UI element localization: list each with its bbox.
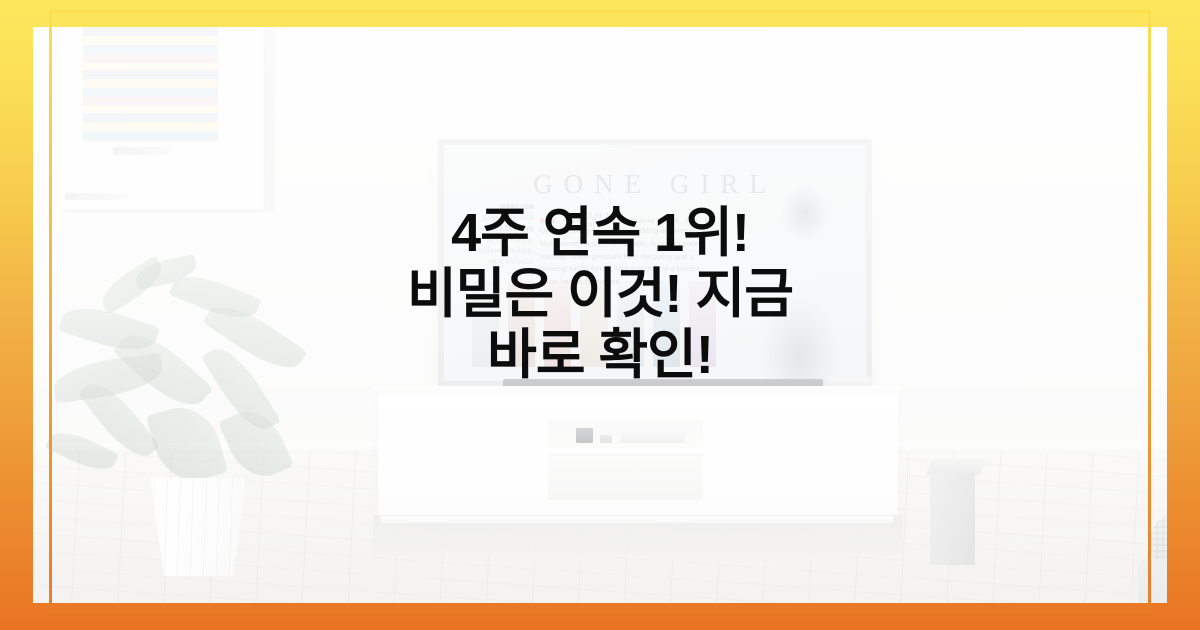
framed-striped-poster (55, 27, 264, 210)
thumbnail-card: GONE GIRL DIRECTOR David Fincher STARRIN… (0, 0, 1200, 630)
console-base-lip (381, 516, 893, 523)
plant-pot-ribs (141, 478, 256, 576)
console-shelf (548, 448, 703, 454)
console-device (576, 428, 593, 443)
console-device (620, 430, 686, 443)
console-device (600, 435, 612, 443)
headline-line-3: 바로 확인! (180, 325, 1020, 386)
headline: 4주 연속 1위! 비밀은 이것! 지금 바로 확인! (0, 203, 1200, 386)
poster-signature (113, 147, 171, 155)
headline-line-2: 비밀은 이것! 지금 (180, 264, 1020, 325)
poster-caption (65, 193, 127, 200)
tv-console (378, 392, 898, 522)
tower-speaker (930, 473, 975, 565)
poster-stripes (83, 27, 218, 141)
plant-leaf (146, 399, 228, 490)
console-top (373, 386, 903, 395)
headline-line-1: 4주 연속 1위! (180, 203, 1020, 264)
plant-leaf (218, 401, 294, 486)
sofa-corner (1138, 559, 1167, 603)
